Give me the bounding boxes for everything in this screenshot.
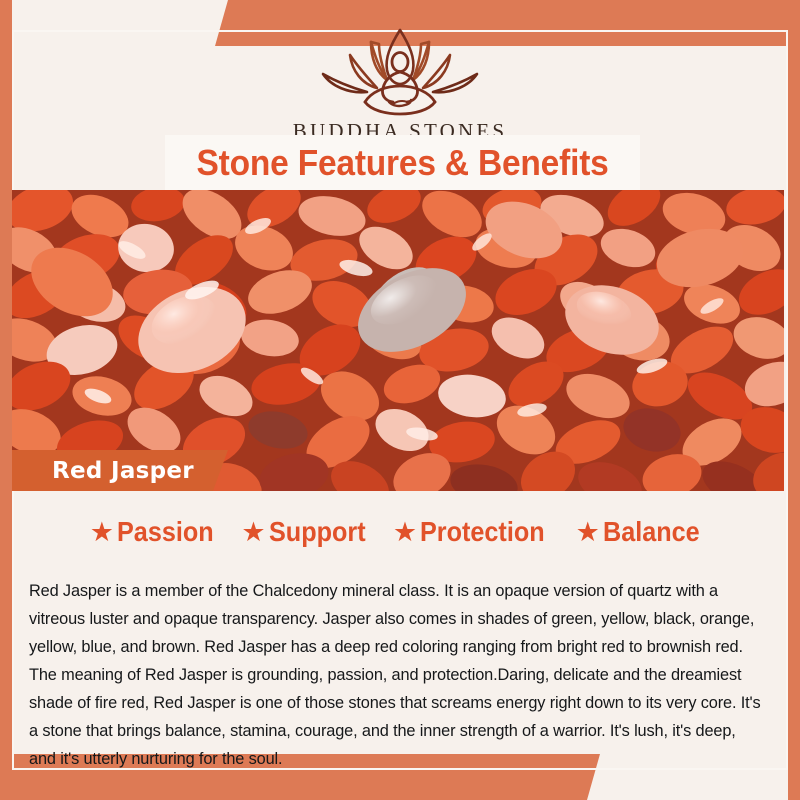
- stone-name-ribbon: Red Jasper: [12, 450, 228, 491]
- benefit-item-passion: ★ Passion: [90, 516, 225, 548]
- star-icon: ★: [393, 519, 417, 546]
- stone-description: Red Jasper is a member of the Chalcedony…: [29, 577, 766, 773]
- star-icon: ★: [241, 519, 265, 546]
- benefit-label: Balance: [603, 516, 700, 548]
- poster: BUDDHA STONES Stone Features & Benefits: [0, 0, 800, 800]
- benefit-label: Protection: [420, 516, 545, 548]
- benefit-item-balance: ★ Balance: [576, 516, 711, 548]
- lotus-meditation-logo-icon: [305, 22, 495, 117]
- stone-photo: [12, 190, 784, 491]
- page-title: Stone Features & Benefits: [196, 142, 608, 184]
- red-jasper-stones-image: [12, 190, 784, 491]
- benefits-row: ★ Passion ★ Support ★ Protection ★ Balan…: [12, 516, 788, 548]
- title-band: Stone Features & Benefits: [165, 135, 640, 190]
- star-icon: ★: [576, 519, 600, 546]
- benefit-label: Support: [269, 516, 366, 548]
- stone-name: Red Jasper: [52, 458, 194, 484]
- benefit-item-protection: ★ Protection: [393, 516, 559, 548]
- brand-logo: BUDDHA STONES: [0, 22, 800, 144]
- star-icon: ★: [90, 519, 114, 546]
- benefit-label: Passion: [117, 516, 214, 548]
- benefit-item-support: ★ Support: [241, 516, 376, 548]
